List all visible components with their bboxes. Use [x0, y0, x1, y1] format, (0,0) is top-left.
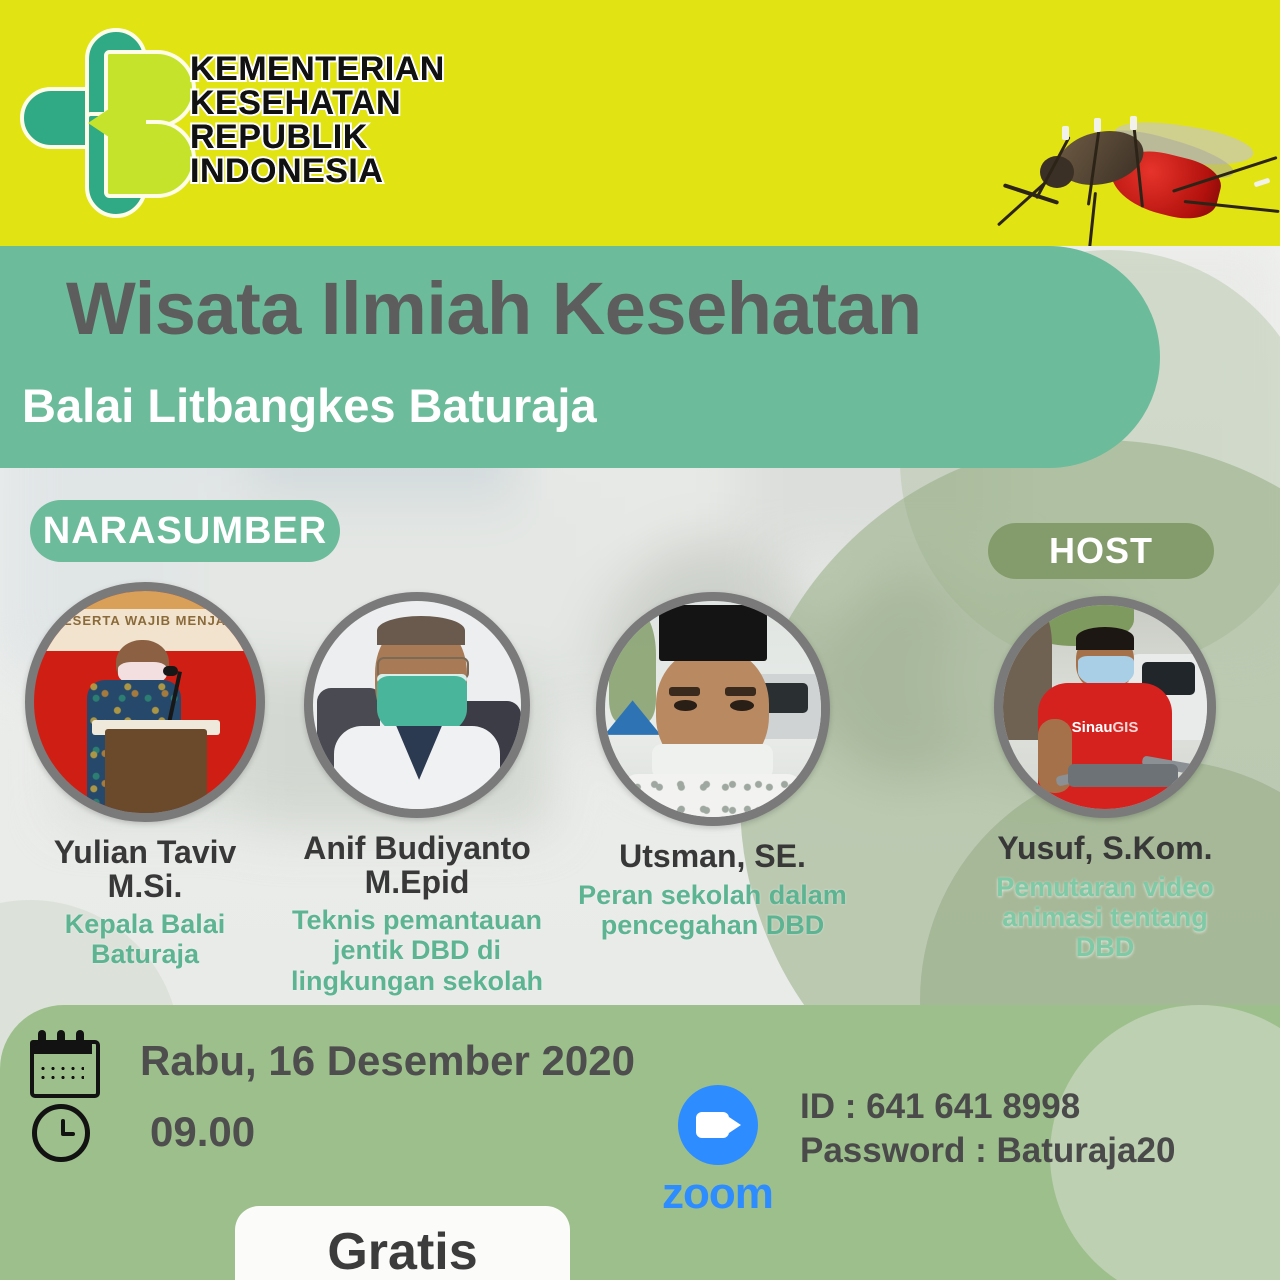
- speaker-role-3: Peran sekolah dalam pencegahan DBD: [575, 880, 850, 940]
- event-date: Rabu, 16 Desember 2020: [140, 1037, 635, 1085]
- speaker-card-4: SinauGIS Yusuf, S.Kom. Pemutaran video a…: [975, 596, 1235, 962]
- event-time: 09.00: [150, 1108, 255, 1156]
- speaker-card-3: Utsman, SE. Peran sekolah dalam pencegah…: [575, 592, 850, 940]
- photo-anif-budiyanto: [313, 601, 521, 809]
- webinar-poster: KEMENTERIAN KESEHATAN REPUBLIK INDONESIA…: [0, 0, 1280, 1280]
- ministry-name: KEMENTERIAN KESEHATAN REPUBLIK INDONESIA: [190, 52, 445, 188]
- speaker-name-3: Utsman, SE.: [575, 840, 850, 874]
- speaker-role-1: Kepala Balai Baturaja: [10, 909, 280, 969]
- speaker-name-4: Yusuf, S.Kom.: [975, 832, 1235, 866]
- kemenkes-logo: [28, 28, 196, 218]
- narasumber-badge: NARASUMBER: [30, 500, 340, 562]
- speaker-name-1-text: Yulian Taviv: [54, 834, 237, 870]
- photo-yulian-taviv: PESERTA WAJIB MENJALA: [34, 591, 256, 813]
- speaker-card-1: PESERTA WAJIB MENJALA Yulian Taviv M.Si.…: [10, 582, 280, 970]
- zoom-logo: zoom: [645, 1085, 790, 1219]
- shirt-logo-part2: GIS: [1112, 719, 1138, 736]
- avatar-ring-2: [304, 592, 530, 818]
- speaker-name-2-text: Anif Budiyanto: [303, 830, 531, 866]
- ministry-line-4-fill: INDONESIA: [190, 154, 445, 188]
- price-label: Gratis: [327, 1222, 477, 1280]
- speaker-degree-2: M.Epid: [365, 864, 470, 900]
- speaker-name-4-text: Yusuf, S.Kom.: [997, 830, 1212, 866]
- avatar-ring-4: SinauGIS: [994, 596, 1216, 818]
- speaker-name-3-text: Utsman, SE.: [619, 838, 806, 874]
- clock-icon: [32, 1104, 90, 1162]
- price-badge: Gratis: [235, 1206, 570, 1280]
- podium-banner-text: PESERTA WAJIB MENJALA: [43, 613, 256, 628]
- speaker-degree-1: M.Si.: [108, 868, 183, 904]
- calendar-icon: [30, 1030, 92, 1090]
- speaker-card-2: Anif Budiyanto M.Epid Teknis pemantauan …: [282, 592, 552, 996]
- page-title: Wisata Ilmiah Kesehatan: [66, 266, 922, 351]
- meeting-credentials: ID : 641 641 8998 Password : Baturaja20: [800, 1085, 1175, 1173]
- ministry-line-3-fill: REPUBLIK: [190, 120, 445, 154]
- shirt-logo-part1: Sinau: [1072, 719, 1113, 736]
- shirt-logo: SinauGIS: [1056, 719, 1154, 736]
- speaker-role-2: Teknis pemantauan jentik DBD di lingkung…: [282, 905, 552, 996]
- ministry-header: KEMENTERIAN KESEHATAN REPUBLIK INDONESIA…: [0, 0, 1280, 246]
- aedes-mosquito-image: [1002, 96, 1270, 246]
- speaker-name-2: Anif Budiyanto M.Epid: [282, 832, 552, 899]
- speaker-role-4: Pemutaran video animasi tentang DBD: [975, 872, 1235, 963]
- avatar-ring-1: PESERTA WAJIB MENJALA: [25, 582, 265, 822]
- zoom-camera-icon: [678, 1085, 758, 1165]
- ministry-line-2-fill: KESEHATAN: [190, 86, 445, 120]
- meeting-password: Password : Baturaja20: [800, 1129, 1175, 1173]
- meeting-id: ID : 641 641 8998: [800, 1085, 1175, 1129]
- photo-yusuf: SinauGIS: [1003, 605, 1207, 809]
- zoom-wordmark: zoom: [645, 1169, 790, 1219]
- ministry-line-1-fill: KEMENTERIAN: [190, 52, 445, 86]
- avatar-ring-3: [596, 592, 830, 826]
- host-badge: HOST: [988, 523, 1214, 579]
- speaker-name-1: Yulian Taviv M.Si.: [10, 836, 280, 903]
- photo-utsman: [605, 601, 821, 817]
- page-subtitle: Balai Litbangkes Baturaja: [22, 378, 597, 433]
